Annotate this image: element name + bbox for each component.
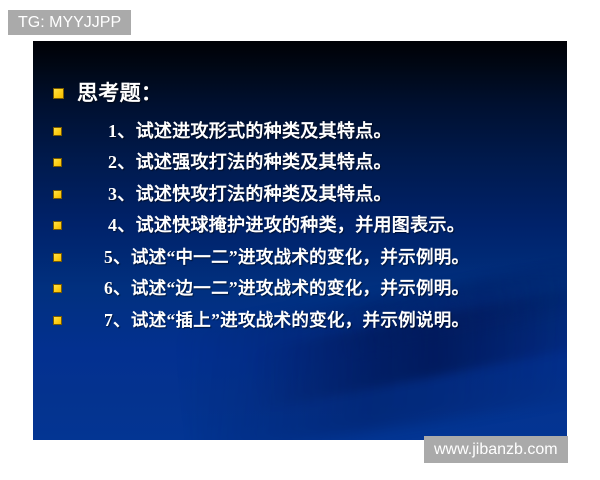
square-bullet-icon bbox=[53, 127, 62, 136]
question-text: 7、试述“插上”进攻战术的变化，并示例说明。 bbox=[104, 310, 469, 331]
square-bullet-icon bbox=[53, 316, 62, 325]
square-bullet-icon bbox=[53, 158, 62, 167]
slide-canvas: 思考题： 1、试述进攻形式的种类及其特点。 2、试述强攻打法的种类及其特点。 3… bbox=[33, 41, 567, 440]
question-item-4: 4、试述快球掩护进攻的种类，并用图表示。 bbox=[53, 215, 465, 236]
question-item-2: 2、试述强攻打法的种类及其特点。 bbox=[53, 152, 392, 173]
square-bullet-icon bbox=[53, 190, 62, 199]
question-item-1: 1、试述进攻形式的种类及其特点。 bbox=[53, 121, 392, 142]
question-text: 5、试述“中一二”进攻战术的变化，并示例明。 bbox=[104, 247, 469, 268]
square-bullet-icon bbox=[53, 253, 62, 262]
question-text: 4、试述快球掩护进攻的种类，并用图表示。 bbox=[108, 215, 465, 236]
question-item-5: 5、试述“中一二”进攻战术的变化，并示例明。 bbox=[53, 247, 469, 268]
slide-content: 思考题： 1、试述进攻形式的种类及其特点。 2、试述强攻打法的种类及其特点。 3… bbox=[33, 41, 567, 440]
question-text: 3、试述快攻打法的种类及其特点。 bbox=[108, 184, 392, 205]
slide-title: 思考题： bbox=[77, 81, 162, 105]
slide-title-row: 思考题： bbox=[53, 81, 162, 105]
question-item-3: 3、试述快攻打法的种类及其特点。 bbox=[53, 184, 392, 205]
watermark-top-left: TG: MYYJJPP bbox=[8, 10, 131, 35]
question-item-6: 6、试述“边一二”进攻战术的变化，并示例明。 bbox=[53, 278, 469, 299]
question-item-7: 7、试述“插上”进攻战术的变化，并示例说明。 bbox=[53, 310, 469, 331]
square-bullet-icon bbox=[53, 88, 64, 99]
square-bullet-icon bbox=[53, 221, 62, 230]
question-text: 6、试述“边一二”进攻战术的变化，并示例明。 bbox=[104, 278, 469, 299]
presentation-page: 思考题： 1、试述进攻形式的种类及其特点。 2、试述强攻打法的种类及其特点。 3… bbox=[0, 0, 600, 480]
question-text: 1、试述进攻形式的种类及其特点。 bbox=[108, 121, 392, 142]
square-bullet-icon bbox=[53, 284, 62, 293]
watermark-bottom-right: www.jibanzb.com bbox=[424, 436, 568, 463]
question-text: 2、试述强攻打法的种类及其特点。 bbox=[108, 152, 392, 173]
